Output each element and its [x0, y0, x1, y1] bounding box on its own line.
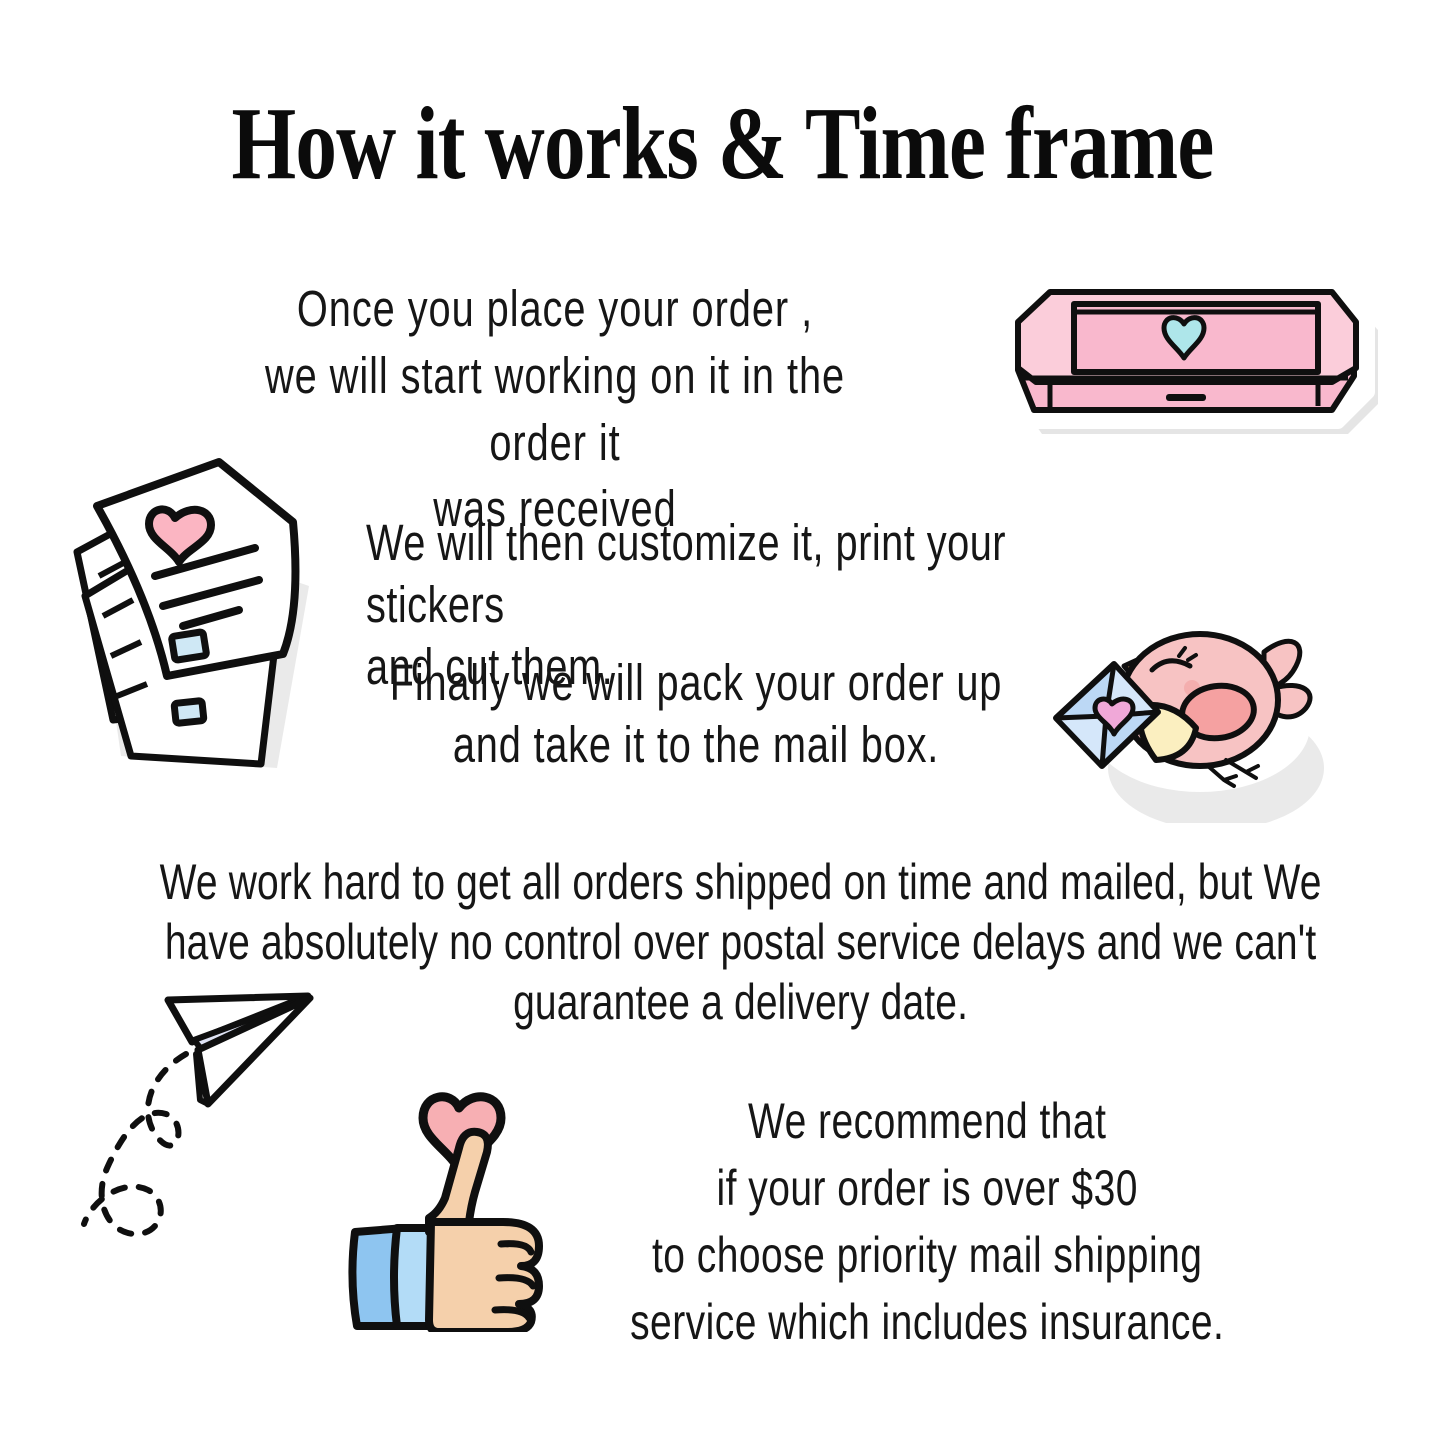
thumbs-up-illustration: [335, 1082, 590, 1332]
blue-square-sticker: [171, 632, 206, 661]
button-slot: [1166, 394, 1206, 401]
cutting-machine-sticker: [988, 272, 1378, 442]
blue-square-sticker: [174, 701, 204, 724]
step-pack-text: Finally we will pack your order up and t…: [345, 652, 1047, 776]
page-title: How it works & Time frame: [145, 92, 1301, 196]
shipping-recommendation-text: We recommend that if your order is over …: [584, 1088, 1270, 1356]
how-it-works-infographic: How it works & Time frame Once you place…: [0, 0, 1445, 1445]
paper-airplane-illustration: [62, 972, 352, 1252]
sticker-sheets-sticker: [55, 448, 355, 793]
envelope-flap: [1056, 716, 1106, 766]
bird-with-envelope-sticker: [1040, 608, 1350, 823]
plane-trail-dashes: [84, 1054, 186, 1234]
